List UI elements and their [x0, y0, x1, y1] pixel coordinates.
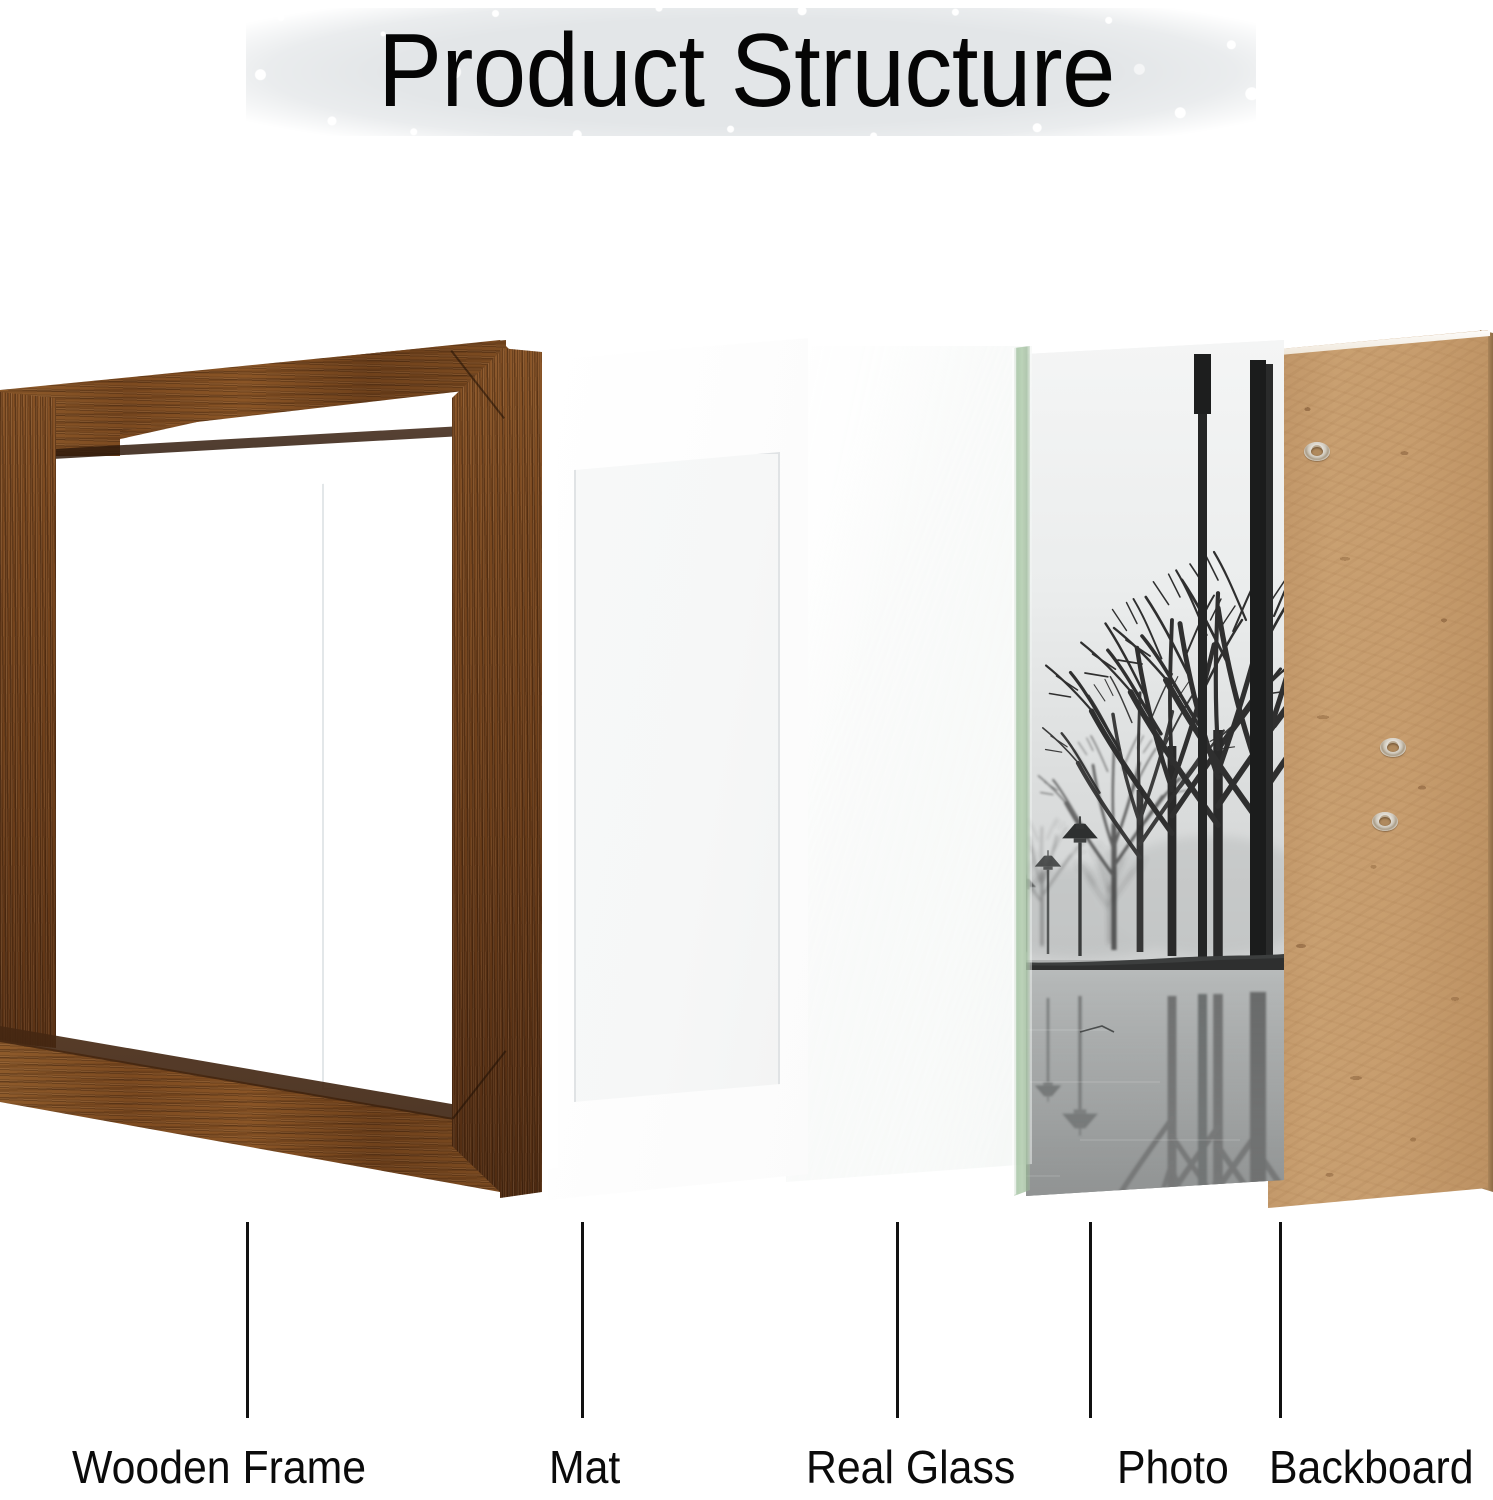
leader-line-photo: [1089, 1222, 1092, 1418]
frame-bottom-rail: [0, 976, 520, 1202]
glass-reflection-sheen: [786, 346, 1032, 1196]
exploded-diagram: Wooden Frame Mat Real Glass Photo Backbo…: [0, 0, 1493, 1500]
mat-window-opening: [574, 452, 780, 1104]
photo-scene-svg: [1026, 340, 1284, 1206]
leader-line-backboard: [1279, 1222, 1282, 1418]
backboard-grommet-top: [1304, 442, 1330, 461]
layer-real-glass[interactable]: [786, 346, 1032, 1196]
label-wooden-frame: Wooden Frame: [72, 1440, 366, 1494]
glass-edge-highlight: [1012, 344, 1016, 1200]
layer-backboard[interactable]: [1268, 330, 1488, 1210]
layer-photo[interactable]: [1026, 340, 1284, 1206]
label-photo: Photo: [1117, 1440, 1229, 1494]
glass-edge-green: [1014, 344, 1030, 1200]
leader-line-wooden-frame: [246, 1222, 249, 1418]
label-backboard: Backboard: [1269, 1440, 1474, 1494]
backboard-grommet-bottom: [1372, 812, 1398, 831]
leader-line-real-glass: [896, 1222, 899, 1418]
layer-wooden-frame[interactable]: [0, 336, 540, 1202]
label-mat: Mat: [549, 1440, 620, 1494]
label-real-glass: Real Glass: [806, 1440, 1015, 1494]
leader-line-mat: [581, 1222, 584, 1418]
photo-image: [1026, 340, 1284, 1206]
backboard-grommet-middle: [1380, 738, 1406, 757]
